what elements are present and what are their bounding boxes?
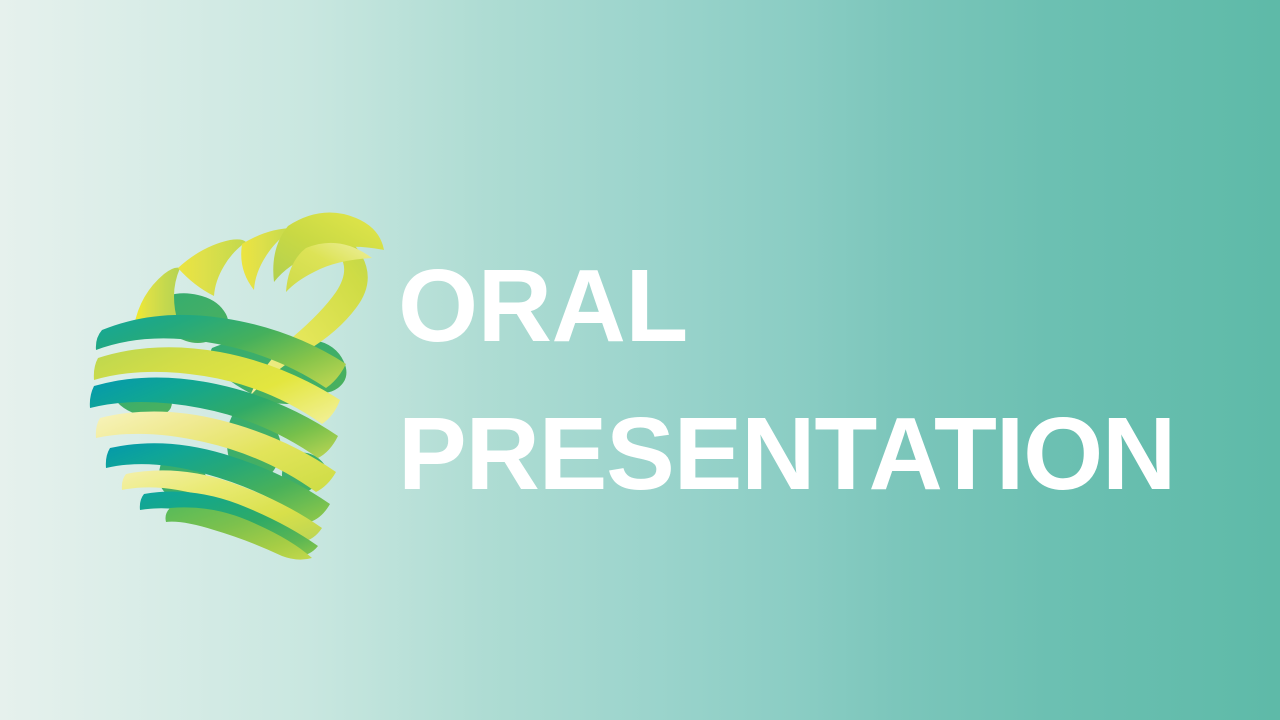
title-line-two: PRESENTATION [398,380,1198,528]
title-line-one: ORAL [398,232,1198,380]
ribbon-2 [178,239,246,296]
page-title: ORAL PRESENTATION [398,232,1198,528]
spiral-globe-leaf-logo [92,208,380,516]
title-slide: ORAL PRESENTATION [0,0,1280,720]
